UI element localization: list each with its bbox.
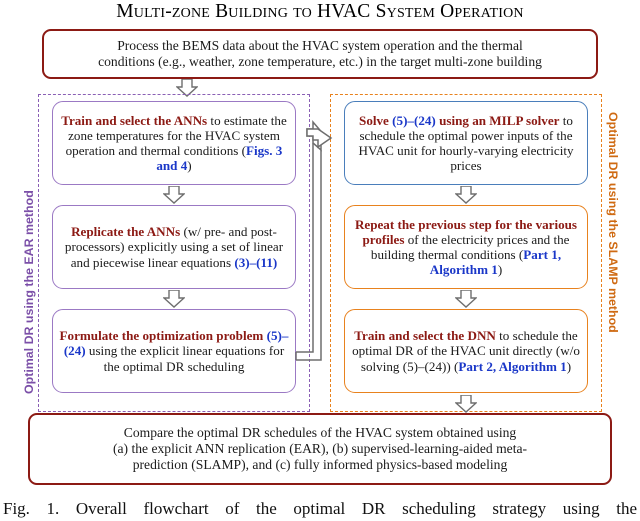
bottom-compare-line1: Compare the optimal DR schedules of the … (124, 425, 516, 440)
top-process-text: Process the BEMS data about the HVAC sys… (44, 38, 596, 70)
bottom-compare-line2: (a) the explicit ANN replication (EAR), … (113, 441, 527, 456)
arrow-left-1-to-2 (163, 186, 185, 204)
box-replicate-anns: Replicate the ANNs (w/ pre- and post-pro… (52, 205, 296, 289)
top-process-box: Process the BEMS data about the HVAC sys… (42, 29, 598, 79)
box-train-select-anns: Train and select the ANNs to estimate th… (52, 101, 296, 185)
box-formulate-optimization: Formulate the optimization problem (5)–(… (52, 309, 296, 393)
arrow-left-2-to-3 (163, 290, 185, 308)
group-ear-label: Optimal DR using the EAR method (22, 112, 36, 394)
top-process-line2: conditions (e.g., weather, zone temperat… (98, 54, 542, 69)
box-train-select-dnn-text: Train and select the DNN to schedule the… (345, 328, 587, 374)
box-replicate-anns-text: Replicate the ANNs (w/ pre- and post-pro… (53, 224, 295, 270)
box-repeat-previous-step-text: Repeat the previous step for the various… (345, 217, 587, 278)
box-solve-milp-text: Solve (5)–(24) using an MILP solver to s… (345, 113, 587, 174)
group-slamp-label: Optimal DR using the SLAMP method (606, 112, 620, 394)
box-train-select-dnn: Train and select the DNN to schedule the… (344, 309, 588, 393)
box-solve-milp: Solve (5)–(24) using an MILP solver to s… (344, 101, 588, 185)
arrow-right-1-to-2 (455, 186, 477, 204)
box-repeat-previous-step: Repeat the previous step for the various… (344, 205, 588, 289)
arrow-right-3-to-bottom (455, 395, 477, 413)
box-formulate-optimization-text: Formulate the optimization problem (5)–(… (53, 328, 295, 374)
figure-title: Multi-zone Building to HVAC System Opera… (0, 1, 640, 23)
bottom-compare-text: Compare the optimal DR schedules of the … (30, 425, 610, 472)
arrow-right-2-to-3 (455, 290, 477, 308)
figure-caption: Fig. 1. Overall flowchart of the optimal… (3, 499, 637, 519)
bottom-compare-line3: prediction (SLAMP), and (c) fully inform… (133, 457, 508, 472)
box-train-select-anns-text: Train and select the ANNs to estimate th… (53, 113, 295, 174)
bottom-compare-box: Compare the optimal DR schedules of the … (28, 413, 612, 485)
figure-root: Multi-zone Building to HVAC System Opera… (0, 0, 640, 521)
top-process-line1: Process the BEMS data about the HVAC sys… (117, 38, 523, 53)
